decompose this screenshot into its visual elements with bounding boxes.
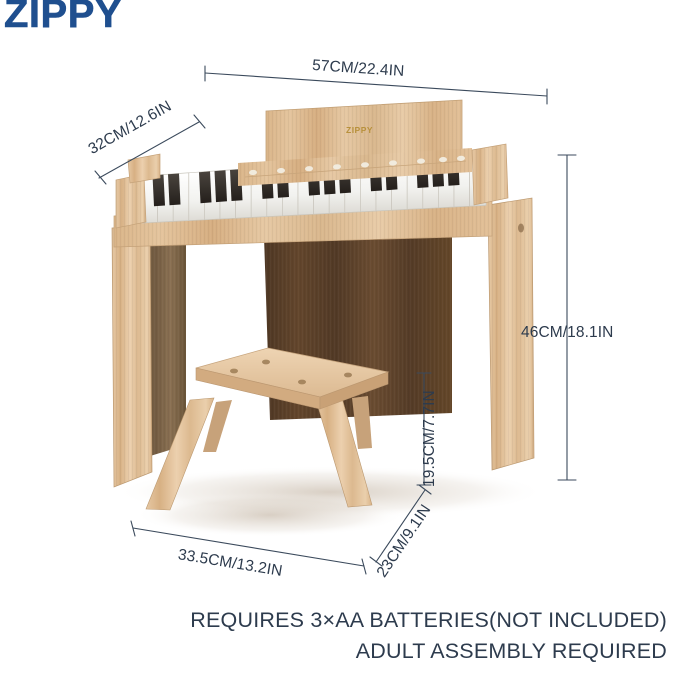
back-panel-brand-badge: ZIPPY <box>346 125 373 135</box>
piano-right-cheek <box>472 144 508 205</box>
piano: ZIPPY <box>112 100 534 487</box>
battery-requirement-line: REQUIRES 3×AA BATTERIES(NOT INCLUDED) <box>190 605 667 636</box>
right-leg-screw-hole <box>518 224 524 233</box>
dimension-label-stool-height: 19.5CM/7.7IN <box>421 390 439 487</box>
dimension-label-height: 46CM/18.1IN <box>521 324 613 342</box>
product-dimension-diagram: ZIPPY <box>0 0 679 673</box>
requirements-notice: REQUIRES 3×AA BATTERIES(NOT INCLUDED) AD… <box>190 605 667 667</box>
assembly-requirement-line: ADULT ASSEMBLY REQUIRED <box>190 636 667 667</box>
piano-left-leg <box>112 226 152 487</box>
